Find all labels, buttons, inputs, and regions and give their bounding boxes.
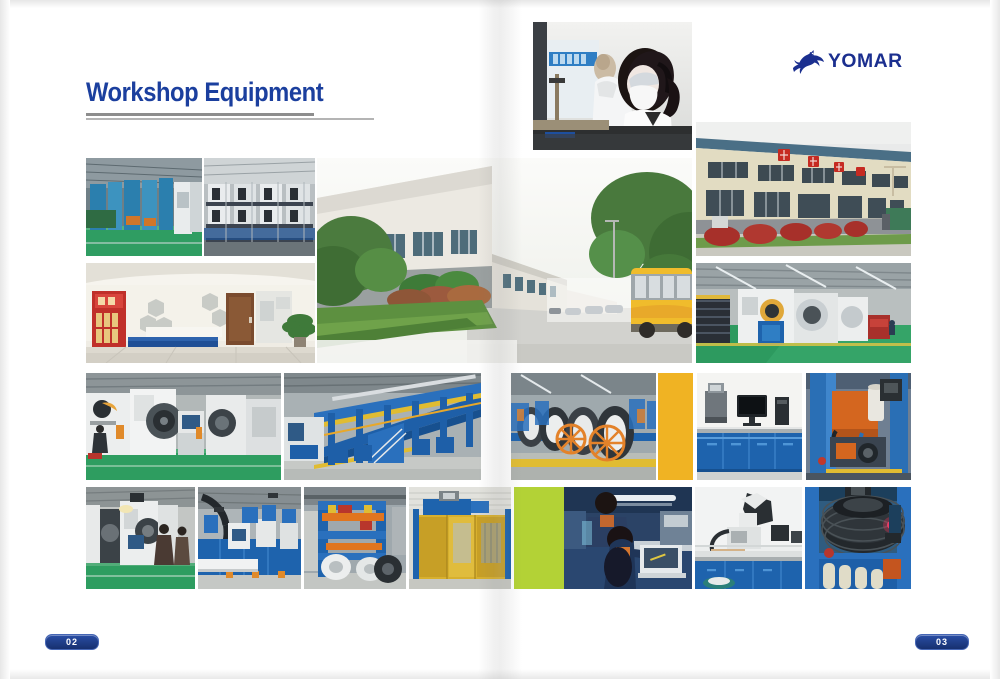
page-edge-top	[0, 0, 1000, 8]
page-edge-right	[990, 0, 1000, 679]
photo-calender-line	[284, 373, 481, 480]
photo-factory-campus	[317, 158, 692, 363]
photo-extruder-line	[198, 487, 301, 589]
photo-qc-workstation	[564, 487, 692, 589]
photo-cnc-forming-machine	[86, 373, 281, 480]
title-underline-primary	[86, 113, 314, 116]
page-edge-bottom	[0, 669, 1000, 679]
photo-operators-at-machine	[86, 487, 195, 589]
photo-tire-uniformity-test	[805, 487, 911, 589]
photo-curing-conveyor	[511, 373, 656, 480]
photo-tire-building-hall	[696, 263, 911, 363]
photo-reception-lobby	[86, 263, 315, 363]
green-accent-block	[514, 487, 564, 589]
photo-lab-technician	[533, 22, 692, 150]
page-number-right: 03	[915, 634, 969, 650]
title-block: Workshop Equipment	[86, 78, 386, 106]
photo-vulcanizing-presses	[86, 158, 202, 256]
photo-bead-winding-unit	[304, 487, 406, 589]
photo-yellow-cabinet-rack	[409, 487, 511, 589]
photo-office-building	[696, 122, 911, 256]
photo-test-lab-bench	[697, 373, 802, 480]
leaping-panther-icon	[790, 48, 826, 76]
title-underline-secondary	[86, 118, 374, 120]
photo-orange-press-unit	[806, 373, 911, 480]
brand-logo: YOMAR	[790, 47, 912, 77]
brochure-page: Workshop Equipment YOMAR	[0, 0, 1000, 679]
page-number-left: 02	[45, 634, 99, 650]
page-title: Workshop Equipment	[86, 78, 350, 106]
photo-measuring-instrument	[695, 487, 802, 589]
brand-wordmark: YOMAR	[828, 51, 903, 73]
yellow-accent-block	[658, 373, 693, 480]
page-edge-left	[0, 0, 10, 679]
photo-injection-machines	[204, 158, 315, 256]
